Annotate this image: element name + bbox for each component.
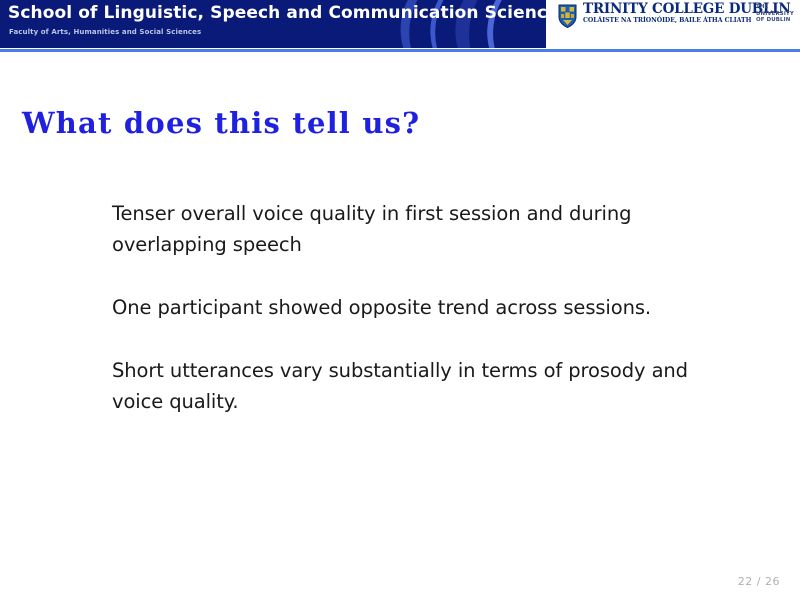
trinity-name-english: TRINITY COLLEGE DUBLIN bbox=[583, 2, 753, 17]
body-paragraph-3: Short utterances vary substantially in t… bbox=[112, 355, 727, 417]
university-of-dublin-block: THE UNIVERSITY OF DUBLIN bbox=[756, 4, 794, 24]
faculty-subtitle: Faculty of Arts, Humanities and Social S… bbox=[9, 28, 201, 36]
trinity-name-block: TRINITY COLLEGE DUBLIN COLÁISTE NA TRÍON… bbox=[583, 2, 753, 25]
trinity-name-irish: COLÁISTE NA TRÍONÓIDE, BAILE ÁTHA CLIATH bbox=[583, 17, 753, 25]
slide-title: What does this tell us? bbox=[22, 106, 420, 140]
header-navy-band: School of Linguistic, Speech and Communi… bbox=[0, 0, 546, 48]
page-number: 22 / 26 bbox=[738, 575, 780, 588]
school-title: School of Linguistic, Speech and Communi… bbox=[8, 3, 546, 23]
trinity-shield-crest-icon bbox=[558, 4, 577, 28]
body-paragraph-2: One participant showed opposite trend ac… bbox=[112, 292, 712, 323]
header-divider-rule bbox=[0, 49, 800, 52]
body-paragraph-1: Tenser overall voice quality in first se… bbox=[112, 198, 672, 260]
slide-body: Tenser overall voice quality in first se… bbox=[112, 198, 732, 417]
university-line-3: OF DUBLIN bbox=[756, 17, 794, 24]
slide-header: School of Linguistic, Speech and Communi… bbox=[0, 0, 800, 52]
trinity-college-logo: TRINITY COLLEGE DUBLIN COLÁISTE NA TRÍON… bbox=[556, 2, 800, 32]
